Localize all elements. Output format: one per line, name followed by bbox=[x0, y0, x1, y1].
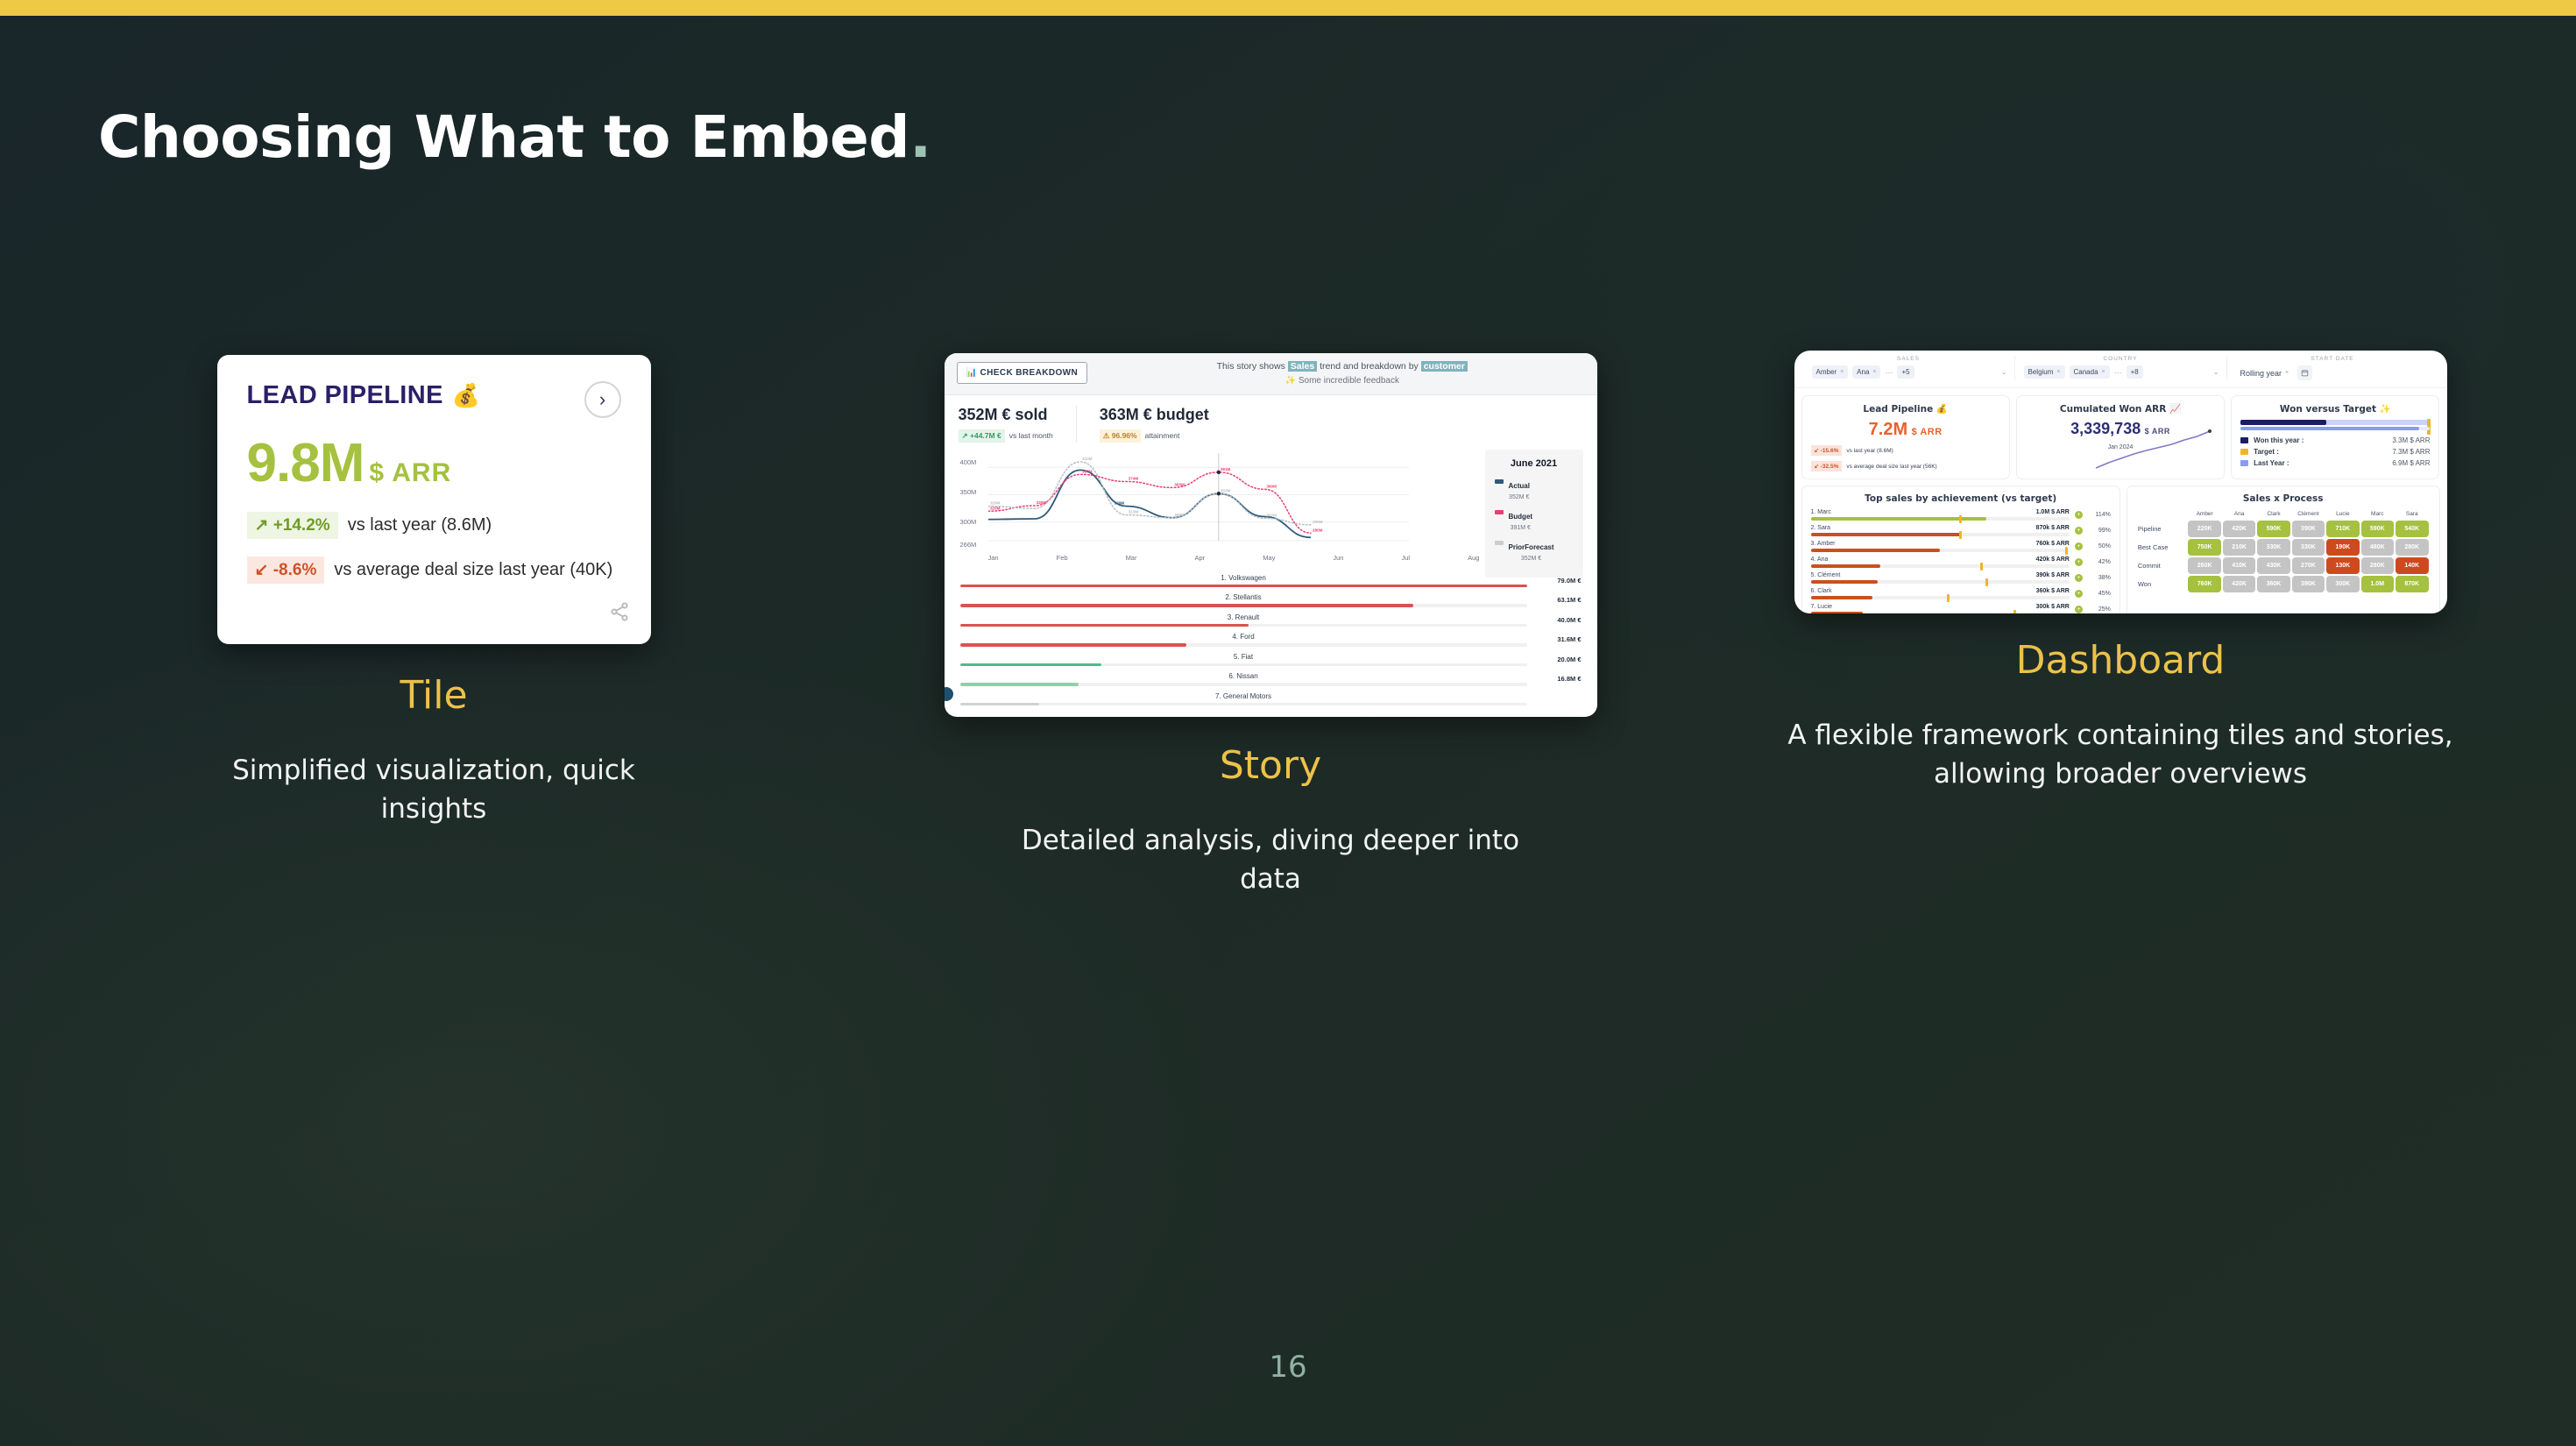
y-tick-350: 350M bbox=[960, 488, 977, 496]
lead-pipeline-kpi: 7.2M $ ARR bbox=[1811, 420, 2000, 440]
matrix-cell[interactable]: 760K bbox=[2188, 576, 2220, 592]
svg-text:307M: 307M bbox=[1266, 513, 1277, 517]
plus-icon[interactable]: + bbox=[2075, 511, 2083, 519]
top-sales-target-marker bbox=[2065, 547, 2068, 555]
matrix-cell[interactable]: 280K bbox=[2396, 539, 2429, 556]
legend-label-budget: Budget bbox=[1509, 513, 1533, 521]
svg-text:295M: 295M bbox=[1313, 519, 1323, 523]
legend-swatch-won bbox=[2240, 437, 2248, 443]
x-tick: Jan bbox=[988, 554, 999, 562]
dashboard-row-bottom: Top sales by achievement (vs target) 1. … bbox=[1801, 486, 2440, 613]
arrow-up-right-icon: ↗ bbox=[255, 516, 269, 535]
top-sales-achievement: 114% bbox=[2088, 512, 2111, 518]
legend-label-actual: Actual bbox=[1509, 482, 1530, 490]
matrix-cell[interactable]: 420K bbox=[2223, 576, 2255, 592]
breakdown-row[interactable]: 6. Nissan 16.8M € bbox=[960, 672, 1582, 686]
dashboard-filter-bar: SALES Amber× Ana× ··· +5 ⌄ COUNTRY Belgi… bbox=[1794, 351, 2447, 388]
top-sales-value: 390k $ ARR bbox=[2036, 572, 2070, 578]
breakdown-value: 16.8M € bbox=[1534, 675, 1582, 683]
breakdown-track bbox=[960, 683, 1527, 686]
bar-chart-icon: 📊 bbox=[966, 368, 978, 378]
column-description-tile: Simplified visualization, quick insights bbox=[48, 751, 819, 828]
lead-pipeline-delta-value: -15.6% bbox=[1821, 448, 1839, 454]
top-sales-row[interactable]: 7. Lucie300k $ ARR + 25% bbox=[1811, 604, 2111, 613]
filter-start-date-label: START DATE bbox=[2236, 356, 2430, 362]
matrix-cell-value: 280K bbox=[2361, 557, 2394, 574]
breakdown-name: 4. Ford bbox=[960, 633, 1527, 641]
top-sales-value: 760k $ ARR bbox=[2036, 541, 2070, 547]
matrix-col-header: Ana bbox=[2223, 511, 2255, 519]
tile-kpi-unit: $ ARR bbox=[369, 458, 451, 487]
top-sales-target-marker bbox=[1959, 515, 1962, 523]
filter-pill-label: Rolling year bbox=[2240, 369, 2282, 378]
plus-icon[interactable]: + bbox=[2075, 606, 2083, 613]
story-kpi-budget-value: 363M € budget bbox=[1100, 406, 1209, 424]
filter-country-values: Belgium× Canada× ··· +8 bbox=[2024, 365, 2218, 379]
last-year-legend-row: Last Year :6.9M $ ARR bbox=[2240, 459, 2430, 467]
x-tick: Apr bbox=[1195, 554, 1206, 562]
top-sales-row[interactable]: 1. Marc1.0M $ ARR + 114% bbox=[1811, 509, 2111, 521]
top-sales-value: 360k $ ARR bbox=[2036, 588, 2070, 594]
top-sales-target-marker bbox=[1985, 578, 1988, 586]
top-sales-achievement: 42% bbox=[2088, 559, 2111, 565]
matrix-cell[interactable]: 480K bbox=[2361, 539, 2394, 556]
story-banner-mid: trend and breakdown by bbox=[1317, 361, 1421, 372]
calendar-icon[interactable] bbox=[2297, 365, 2312, 380]
close-icon[interactable]: × bbox=[2056, 369, 2060, 375]
money-bag-icon: 💰 bbox=[452, 382, 481, 408]
svg-text:308M: 308M bbox=[1174, 512, 1185, 516]
won-progress-track bbox=[2240, 420, 2430, 425]
x-tick: Jun bbox=[1333, 554, 1343, 562]
widget-lead-pipeline-title: Lead Pipeline 💰 bbox=[1811, 403, 2000, 415]
matrix-cell-value: 750K bbox=[2188, 539, 2220, 556]
top-sales-row[interactable]: 4. Ana420k $ ARR + 42% bbox=[1811, 556, 2111, 568]
breakdown-row[interactable]: 4. Ford 31.6M € bbox=[960, 633, 1582, 647]
column-tile: LEAD PIPELINE💰 › 9.8M$ ARR ↗ +14.2% vs l… bbox=[48, 351, 819, 828]
matrix-cell[interactable]: 280K bbox=[2361, 557, 2394, 574]
matrix-cell-value: 710K bbox=[2326, 521, 2359, 537]
legend-value-target: 7.3M $ ARR bbox=[2392, 448, 2430, 456]
legend-item-actual[interactable]: Actual352M € bbox=[1495, 477, 1574, 500]
legend-label-won: Won this year : bbox=[2254, 436, 2387, 444]
matrix-cell-value: 760K bbox=[2188, 576, 2220, 592]
page-title-text: Choosing What to Embed bbox=[98, 103, 909, 171]
matrix-cell[interactable]: 220K bbox=[2188, 521, 2220, 537]
matrix-cell[interactable]: 430K bbox=[2257, 557, 2289, 574]
chevron-right-icon[interactable]: › bbox=[584, 381, 621, 418]
svg-text:352M: 352M bbox=[1220, 488, 1230, 493]
top-sales-name: 5. Clément bbox=[1811, 572, 1841, 578]
widget-title-text: Won versus Target bbox=[2280, 404, 2376, 415]
breakdown-name: 2. Stellantis bbox=[960, 593, 1527, 601]
story-banner-line1: This story shows Sales trend and breakdo… bbox=[1100, 361, 1584, 372]
matrix-cell-value: 330K bbox=[2292, 539, 2325, 556]
widget-lead-pipeline[interactable]: Lead Pipeline 💰 7.2M $ ARR ↙ -15.6%vs la… bbox=[1801, 395, 2010, 479]
matrix-col-header: Marc bbox=[2361, 511, 2394, 519]
tile-delta-value: +14.2% bbox=[273, 516, 330, 535]
plus-icon[interactable]: + bbox=[2075, 574, 2083, 582]
matrix-cell[interactable]: 590K bbox=[2361, 521, 2394, 537]
breakdown-name: 1. Volkswagen bbox=[960, 574, 1527, 582]
top-sales-list: 1. Marc1.0M $ ARR + 114% 2. Sara870k $ A… bbox=[1811, 509, 2111, 613]
breakdown-fill bbox=[960, 663, 1102, 667]
matrix-cell-value: 220K bbox=[2188, 521, 2220, 537]
breakdown-row[interactable]: 7. General Motors bbox=[960, 692, 1582, 706]
top-sales-value: 1.0M $ ARR bbox=[2036, 509, 2070, 515]
arrow-down-left-icon: ↙ bbox=[1815, 464, 1819, 470]
breakdown-fill bbox=[960, 703, 1040, 706]
x-tick: Jul bbox=[1401, 554, 1410, 562]
widget-title-text: Cumulated Won ARR bbox=[2060, 404, 2166, 415]
matrix-corner bbox=[2138, 511, 2187, 519]
top-sales-row[interactable]: 6. Clark360k $ ARR + 45% bbox=[1811, 588, 2111, 599]
breakdown-track bbox=[960, 624, 1527, 627]
won-versus-target-bars bbox=[2240, 420, 2430, 430]
plus-icon[interactable]: + bbox=[2075, 558, 2083, 566]
lead-pipeline-delta-text: vs last year (8.6M) bbox=[1846, 448, 1893, 454]
filter-sales-label: SALES bbox=[1812, 356, 2006, 362]
svg-text:391M: 391M bbox=[1220, 466, 1230, 471]
svg-text:329M: 329M bbox=[990, 500, 1001, 505]
matrix-cell-value: 870K bbox=[2396, 576, 2429, 592]
filter-more-badge[interactable]: +8 bbox=[2127, 365, 2143, 379]
matrix-cell[interactable]: 540K bbox=[2396, 521, 2429, 537]
story-chart-legend: June 2021 Actual352M € Budget391M € bbox=[1485, 450, 1583, 578]
matrix-cell[interactable]: 140K bbox=[2396, 557, 2429, 574]
breakdown-name: 5. Fiat bbox=[960, 653, 1527, 661]
breakdown-row[interactable]: 3. Renault 40.0M € bbox=[960, 613, 1582, 627]
filter-sales[interactable]: SALES Amber× Ana× ··· +5 ⌄ bbox=[1803, 356, 2015, 380]
matrix-col-header: Clark bbox=[2257, 511, 2289, 519]
y-tick-300: 300M bbox=[960, 518, 977, 526]
story-kpi-budget-chip: ⚠ 96.96% bbox=[1100, 429, 1141, 443]
breakdown-fill bbox=[960, 624, 1249, 627]
matrix-cell[interactable]: 710K bbox=[2326, 521, 2359, 537]
matrix-cell-value: 300K bbox=[2326, 576, 2359, 592]
ellipsis-icon: ··· bbox=[1885, 368, 1893, 377]
story-kpi-budget-pct: 96.96% bbox=[1112, 431, 1137, 440]
story-kpi-budget: 363M € budget ⚠ 96.96%attainment bbox=[1100, 406, 1232, 443]
top-sales-name: 3. Amber bbox=[1811, 541, 1836, 547]
matrix-cell-value: 590K bbox=[2361, 521, 2394, 537]
lead-pipeline-delta-row: ↙ -32.5%vs average deal size last year (… bbox=[1811, 461, 2000, 471]
story-body: 352M € sold ↗ +44.7M €vs last month 363M… bbox=[945, 395, 1597, 717]
matrix-cell-value: 280K bbox=[2396, 539, 2429, 556]
breakdown-row[interactable]: 2. Stellantis 63.1M € bbox=[960, 593, 1582, 607]
filter-pill-label: Belgium bbox=[2028, 368, 2054, 376]
lead-pipeline-delta-chip: ↙ -32.5% bbox=[1811, 461, 1843, 471]
story-mock-card[interactable]: 📊 CHECK BREAKDOWN This story shows Sales… bbox=[945, 353, 1597, 717]
matrix-cell[interactable]: 1.0M bbox=[2361, 576, 2394, 592]
dashboard-mock-wrap: SALES Amber× Ana× ··· +5 ⌄ COUNTRY Belgi… bbox=[1735, 351, 2506, 613]
close-icon[interactable]: × bbox=[1840, 369, 1844, 375]
story-mock-wrap: 📊 CHECK BREAKDOWN This story shows Sales… bbox=[885, 351, 1656, 719]
widget-title-text: Lead Pipeline bbox=[1863, 404, 1933, 415]
y-tick-266: 266M bbox=[960, 541, 977, 549]
money-bag-icon: 💰 bbox=[1936, 404, 1948, 415]
breakdown-row[interactable]: 5. Fiat 20.0M € bbox=[960, 653, 1582, 667]
matrix-row-header: Won bbox=[2138, 576, 2187, 592]
tile-delta-row: ↙ -8.6% vs average deal size last year (… bbox=[247, 556, 621, 584]
story-highlight-customer[interactable]: customer bbox=[1421, 361, 1468, 372]
lead-pipeline-value: 7.2M bbox=[1869, 420, 1907, 439]
story-kpi-sold-sub: ↗ +44.7M €vs last month bbox=[959, 429, 1053, 443]
matrix-cell-value: 540K bbox=[2396, 521, 2429, 537]
filter-pill-label: Canada bbox=[2074, 368, 2098, 376]
svg-text:387M: 387M bbox=[1082, 469, 1093, 473]
story-highlight-sales[interactable]: Sales bbox=[1288, 361, 1317, 372]
column-label-tile: Tile bbox=[48, 673, 819, 718]
lead-pipeline-delta-value: -32.5% bbox=[1821, 464, 1839, 470]
matrix-cell-value: 390K bbox=[2292, 521, 2325, 537]
filter-sales-values: Amber× Ana× ··· +5 bbox=[1812, 365, 2006, 379]
matrix-cell[interactable]: 210K bbox=[2223, 539, 2255, 556]
matrix-cell-value: 130K bbox=[2326, 557, 2359, 574]
lead-pipeline-delta-chip: ↙ -15.6% bbox=[1811, 445, 1843, 456]
svg-text:330M: 330M bbox=[1036, 500, 1046, 505]
matrix-col-header: Clément bbox=[2292, 511, 2325, 519]
story-breakdown-list: 1. Volkswagen 79.0M € 2. Stellantis 63.1… bbox=[959, 574, 1583, 706]
top-sales-fill bbox=[1811, 564, 1881, 568]
svg-text:410M: 410M bbox=[1082, 457, 1093, 461]
story-kpi-budget-caption: attainment bbox=[1145, 431, 1180, 440]
matrix-row: Won760K420K360K390K300K1.0M870K bbox=[2138, 576, 2429, 592]
warning-icon: ⚠ bbox=[1103, 431, 1110, 440]
widget-top-sales[interactable]: Top sales by achievement (vs target) 1. … bbox=[1801, 486, 2120, 613]
top-sales-name: 4. Ana bbox=[1811, 556, 1829, 563]
top-sales-fill bbox=[1811, 612, 1863, 613]
top-sales-track bbox=[1811, 564, 2070, 568]
tile-header: LEAD PIPELINE💰 › bbox=[247, 381, 621, 418]
matrix-cell[interactable]: 590K bbox=[2257, 521, 2289, 537]
story-chart-svg: 320M329M330M387M410M374M313M363M308M391M… bbox=[988, 453, 1409, 548]
x-tick: Aug bbox=[1468, 554, 1479, 562]
matrix-cell[interactable]: 750K bbox=[2188, 539, 2220, 556]
plus-icon[interactable]: + bbox=[2075, 527, 2083, 535]
filter-pill[interactable]: Ana× bbox=[1852, 365, 1880, 379]
top-sales-row[interactable]: 3. Amber760k $ ARR + 50% bbox=[1811, 541, 2111, 552]
top-sales-row[interactable]: 5. Clément390k $ ARR + 38% bbox=[1811, 572, 2111, 584]
legend-value-last-year: 6.9M $ ARR bbox=[2392, 459, 2430, 467]
column-description-story: Detailed analysis, diving deeper into da… bbox=[885, 821, 1656, 898]
tile-mock-card[interactable]: LEAD PIPELINE💰 › 9.8M$ ARR ↗ +14.2% vs l… bbox=[217, 355, 651, 644]
breakdown-value: 79.0M € bbox=[1534, 577, 1582, 585]
matrix-cell[interactable]: 300K bbox=[2326, 576, 2359, 592]
widget-cumulated-won-arr[interactable]: Cumulated Won ARR 📈 3,339,738 $ ARR Jan … bbox=[2016, 395, 2225, 479]
legend-item-priorforecast[interactable]: PriorForecast352M € bbox=[1495, 538, 1574, 562]
legend-swatch-last-year bbox=[2240, 460, 2248, 466]
top-sales-track bbox=[1811, 533, 2070, 536]
matrix-cell-value: 590K bbox=[2257, 521, 2289, 537]
matrix-cell-value: 410K bbox=[2223, 557, 2255, 574]
plus-icon[interactable]: + bbox=[2075, 542, 2083, 550]
breakdown-name: 7. General Motors bbox=[960, 692, 1527, 700]
top-sales-achievement: 38% bbox=[2088, 575, 2111, 581]
filter-start-date[interactable]: START DATE Rolling year× bbox=[2227, 356, 2438, 380]
dashboard-body: Lead Pipeline 💰 7.2M $ ARR ↙ -15.6%vs la… bbox=[1794, 388, 2447, 613]
top-sales-achievement: 99% bbox=[2088, 528, 2111, 534]
story-feedback-text: Some incredible feedback bbox=[1299, 376, 1399, 386]
matrix-cell-value: 260K bbox=[2188, 557, 2220, 574]
matrix-cell-value: 480K bbox=[2361, 539, 2394, 556]
widget-sales-x-process[interactable]: Sales x Process AmberAnaClarkClémentLuci… bbox=[2127, 486, 2440, 613]
matrix-cell-value: 430K bbox=[2257, 557, 2289, 574]
legend-item-budget[interactable]: Budget391M € bbox=[1495, 507, 1574, 531]
story-line-chart[interactable]: 400M 350M 300M 266M 320M329M330M387M410M… bbox=[959, 453, 1583, 548]
matrix-cell-value: 270K bbox=[2292, 557, 2325, 574]
matrix-col-header: Amber bbox=[2188, 511, 2220, 519]
matrix-cell-value: 1.0M bbox=[2361, 576, 2394, 592]
matrix-cell[interactable]: 260K bbox=[2188, 557, 2220, 574]
tile-delta-text: vs average deal size last year (40K) bbox=[334, 560, 612, 580]
top-sales-track bbox=[1811, 596, 2070, 599]
page-title: Choosing What to Embed. bbox=[98, 103, 931, 171]
filter-more-badge[interactable]: +5 bbox=[1897, 365, 1914, 379]
matrix-cell-value: 330K bbox=[2257, 539, 2289, 556]
page-title-dot: . bbox=[909, 103, 931, 171]
legend-value-won: 3.3M $ ARR bbox=[2392, 436, 2430, 444]
top-sales-achievement: 45% bbox=[2088, 591, 2111, 597]
story-kpi-sold-caption: vs last month bbox=[1009, 431, 1053, 440]
legend-value-budget: 391M € bbox=[1509, 525, 1533, 531]
top-sales-fill bbox=[1811, 596, 1873, 599]
matrix-cell-value: 140K bbox=[2396, 557, 2429, 574]
close-icon[interactable]: × bbox=[2102, 369, 2105, 375]
matrix-cell[interactable]: 190K bbox=[2326, 539, 2359, 556]
widget-cumulated-won-title: Cumulated Won ARR 📈 bbox=[2026, 403, 2215, 415]
chevron-down-icon[interactable]: ⌄ bbox=[2213, 368, 2219, 376]
plus-icon[interactable]: + bbox=[2075, 590, 2083, 598]
story-kpi-row: 352M € sold ↗ +44.7M €vs last month 363M… bbox=[959, 406, 1583, 443]
filter-pill[interactable]: Belgium× bbox=[2024, 365, 2065, 379]
matrix-cell[interactable]: 130K bbox=[2326, 557, 2359, 574]
breakdown-track bbox=[960, 643, 1527, 647]
tile-title-text: LEAD PIPELINE bbox=[247, 381, 443, 409]
filter-pill[interactable]: Canada× bbox=[2070, 365, 2110, 379]
top-sales-fill bbox=[1811, 533, 1961, 536]
matrix-row: Pipeline220K420K590K390K710K590K540K bbox=[2138, 521, 2429, 537]
breakdown-fill bbox=[960, 683, 1079, 686]
breakdown-value: 63.1M € bbox=[1534, 596, 1582, 604]
breakdown-track bbox=[960, 604, 1527, 607]
arrow-down-left-icon: ↙ bbox=[255, 561, 269, 579]
top-sales-fill bbox=[1811, 580, 1879, 584]
close-icon[interactable]: × bbox=[2285, 370, 2289, 376]
matrix-cell-value: 420K bbox=[2223, 576, 2255, 592]
breakdown-track bbox=[960, 663, 1527, 667]
won-progress-fill bbox=[2240, 420, 2325, 425]
widget-sales-x-process-title: Sales x Process bbox=[2136, 493, 2431, 504]
matrix-cell[interactable]: 360K bbox=[2257, 576, 2289, 592]
svg-text:320M: 320M bbox=[990, 506, 1001, 510]
lead-pipeline-delta-row: ↙ -15.6%vs last year (8.6M) bbox=[1811, 445, 2000, 456]
page-number: 16 bbox=[0, 1350, 2576, 1385]
top-sales-target-marker bbox=[1947, 594, 1950, 602]
story-kpi-sold-delta: +44.7M € bbox=[970, 431, 1001, 440]
chart-increasing-icon: 📈 bbox=[2169, 404, 2181, 415]
top-sales-row[interactable]: 2. Sara870k $ ARR + 99% bbox=[1811, 525, 2111, 536]
check-breakdown-button[interactable]: 📊 CHECK BREAKDOWN bbox=[957, 362, 1088, 384]
top-sales-value: 870k $ ARR bbox=[2036, 525, 2070, 531]
matrix-col-header: Sara bbox=[2396, 511, 2429, 519]
legend-swatch-actual bbox=[1495, 479, 1504, 484]
story-kpi-budget-sub: ⚠ 96.96%attainment bbox=[1100, 429, 1209, 443]
lead-pipeline-unit: $ ARR bbox=[1912, 427, 1943, 437]
tile-delta-chip-down: ↙ -8.6% bbox=[247, 556, 325, 584]
lead-pipeline-delta-text: vs average deal size last year (56K) bbox=[1846, 464, 1936, 470]
sparkles-icon: ✨ bbox=[1285, 376, 1296, 386]
widget-top-sales-title: Top sales by achievement (vs target) bbox=[1811, 493, 2111, 504]
svg-text:280M: 280M bbox=[1313, 528, 1323, 532]
breakdown-fill bbox=[960, 585, 1527, 588]
close-icon[interactable]: × bbox=[1872, 369, 1876, 375]
share-icon[interactable] bbox=[609, 601, 630, 628]
matrix-col-header: Lucie bbox=[2326, 511, 2359, 519]
matrix-cell[interactable]: 390K bbox=[2292, 521, 2325, 537]
last-year-fill bbox=[2240, 427, 2418, 430]
matrix-cell-value: 190K bbox=[2326, 539, 2359, 556]
breakdown-name: 3. Renault bbox=[960, 613, 1527, 621]
matrix-cell[interactable]: 420K bbox=[2223, 521, 2255, 537]
breakdown-value: 40.0M € bbox=[1534, 616, 1582, 624]
matrix-cell[interactable]: 390K bbox=[2292, 576, 2325, 592]
dashboard-mock-card[interactable]: SALES Amber× Ana× ··· +5 ⌄ COUNTRY Belgi… bbox=[1794, 351, 2447, 613]
x-tick: Feb bbox=[1057, 554, 1068, 562]
widget-won-versus-target[interactable]: Won versus Target ✨ Won this ye bbox=[2231, 395, 2439, 479]
filter-pill[interactable]: Rolling year× bbox=[2236, 366, 2294, 380]
tile-mock-wrap: LEAD PIPELINE💰 › 9.8M$ ARR ↗ +14.2% vs l… bbox=[48, 351, 819, 649]
legend-title: June 2021 bbox=[1495, 458, 1574, 469]
legend-swatch-target bbox=[2240, 449, 2248, 455]
matrix-cell[interactable]: 330K bbox=[2257, 539, 2289, 556]
sales-x-process-matrix: AmberAnaClarkClémentLucieMarcSaraPipelin… bbox=[2136, 509, 2431, 594]
matrix-cell[interactable]: 330K bbox=[2292, 539, 2325, 556]
tile-kpi-value: 9.8M bbox=[247, 433, 364, 493]
y-tick-400: 400M bbox=[960, 458, 977, 466]
widget-won-versus-target-title: Won versus Target ✨ bbox=[2240, 403, 2430, 415]
matrix-cell-value: 210K bbox=[2223, 539, 2255, 556]
dashboard-row-top: Lead Pipeline 💰 7.2M $ ARR ↙ -15.6%vs la… bbox=[1801, 395, 2440, 479]
tile-kpi: 9.8M$ ARR bbox=[247, 432, 621, 494]
story-chart-x-axis: Jan Feb Mar Apr May Jun Jul Aug bbox=[988, 554, 1480, 562]
legend-value-actual: 352M € bbox=[1509, 494, 1530, 500]
tile-delta-chip-up: ↗ +14.2% bbox=[247, 512, 338, 539]
top-sales-value: 300k $ ARR bbox=[2036, 604, 2070, 610]
column-story: 📊 CHECK BREAKDOWN This story shows Sales… bbox=[885, 351, 1656, 898]
cumulated-won-sparkline bbox=[2089, 421, 2220, 475]
breakdown-value: 20.0M € bbox=[1534, 656, 1582, 663]
legend-label-target: Target : bbox=[2254, 448, 2387, 456]
column-label-story: Story bbox=[885, 743, 1656, 788]
top-sales-name: 7. Lucie bbox=[1811, 604, 1833, 610]
chevron-down-icon[interactable]: ⌄ bbox=[2001, 368, 2007, 376]
filter-country[interactable]: COUNTRY Belgium× Canada× ··· +8 ⌄ bbox=[2015, 356, 2227, 380]
breakdown-fill bbox=[960, 643, 1187, 647]
filter-start-date-values: Rolling year× bbox=[2236, 365, 2430, 380]
legend-label-priorforecast: PriorForecast bbox=[1509, 543, 1554, 551]
story-nav-handle[interactable] bbox=[945, 687, 953, 701]
sparkles-icon: ✨ bbox=[2380, 404, 2391, 415]
story-banner-text: This story shows Sales trend and breakdo… bbox=[1100, 361, 1584, 386]
matrix-cell[interactable]: 410K bbox=[2223, 557, 2255, 574]
arrow-up-right-icon: ↗ bbox=[962, 431, 968, 440]
matrix-row: Commit260K410K430K270K130K280K140K bbox=[2138, 557, 2429, 574]
matrix-cell[interactable]: 270K bbox=[2292, 557, 2325, 574]
legend-label-last-year: Last Year : bbox=[2254, 459, 2387, 467]
matrix-cell[interactable]: 870K bbox=[2396, 576, 2429, 592]
filter-pill[interactable]: Amber× bbox=[1812, 365, 1849, 379]
